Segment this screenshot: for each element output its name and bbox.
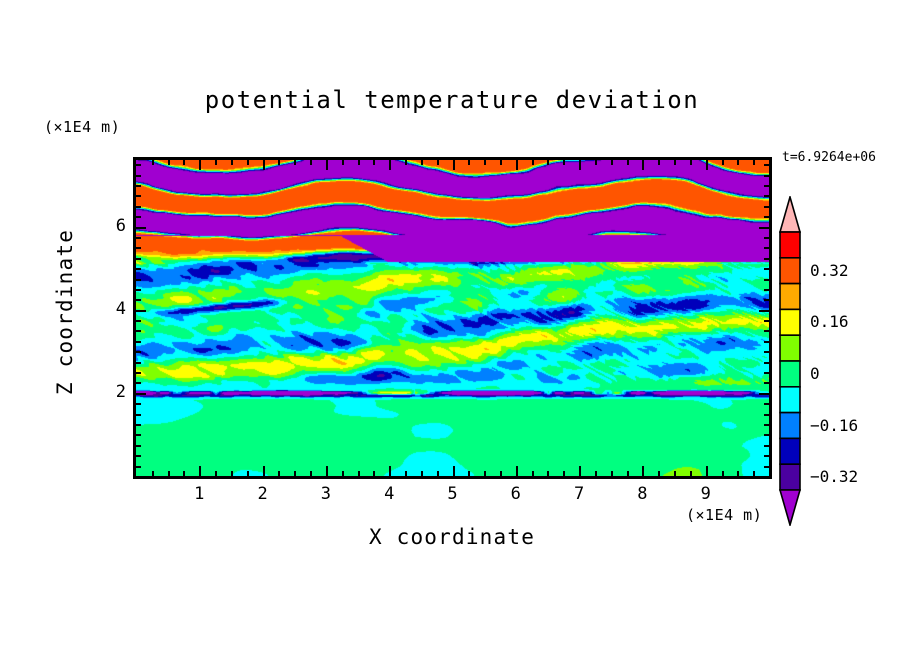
y-axis-minor-tick-right xyxy=(764,175,769,177)
x-axis-minor-tick-top xyxy=(753,160,755,165)
colorbar-tick-label: −0.16 xyxy=(810,416,858,435)
x-axis-major-tick xyxy=(263,466,265,476)
y-axis-minor-tick xyxy=(136,445,141,447)
y-axis-minor-tick-right xyxy=(764,382,769,384)
x-axis-minor-tick xyxy=(563,471,565,476)
y-axis-minor-tick-right xyxy=(764,299,769,301)
x-axis-minor-tick-top xyxy=(168,160,170,165)
y-axis-minor-tick xyxy=(136,320,141,322)
x-axis-minor-tick xyxy=(674,471,676,476)
x-axis-minor-tick xyxy=(547,471,549,476)
x-axis-minor-tick-top xyxy=(658,160,660,165)
x-axis-tick-label: 7 xyxy=(559,484,599,504)
x-axis-major-tick-top xyxy=(199,160,201,170)
x-axis-minor-tick-top xyxy=(627,160,629,165)
x-axis-minor-tick xyxy=(421,471,423,476)
x-axis-minor-tick-top xyxy=(690,160,692,165)
x-axis-tick-label: 4 xyxy=(369,484,409,504)
x-axis-minor-tick xyxy=(627,471,629,476)
y-axis-minor-tick xyxy=(136,372,141,374)
x-axis-title: X coordinate xyxy=(0,525,904,549)
y-axis-minor-tick xyxy=(136,206,141,208)
y-axis-minor-tick-right xyxy=(764,164,769,166)
x-axis-major-tick xyxy=(389,466,391,476)
y-axis-major-tick-right xyxy=(759,310,769,312)
x-axis-minor-tick xyxy=(310,471,312,476)
y-axis-minor-tick xyxy=(136,185,141,187)
y-axis-minor-tick-right xyxy=(764,268,769,270)
x-axis-minor-tick-top xyxy=(532,160,534,165)
y-axis-minor-tick-right xyxy=(764,403,769,405)
x-axis-major-tick xyxy=(706,466,708,476)
y-axis-minor-tick-right xyxy=(764,341,769,343)
x-axis-minor-tick xyxy=(342,471,344,476)
y-axis-minor-tick xyxy=(136,289,141,291)
y-axis-unit-label: (×1E4 m) xyxy=(44,118,120,136)
x-axis-major-tick xyxy=(326,466,328,476)
x-axis-minor-tick-top xyxy=(358,160,360,165)
x-axis-tick-label: 2 xyxy=(243,484,283,504)
y-axis-minor-tick xyxy=(136,268,141,270)
x-axis-minor-tick xyxy=(722,471,724,476)
x-axis-minor-tick-top xyxy=(247,160,249,165)
x-axis-minor-tick-top xyxy=(152,160,154,165)
y-axis-minor-tick-right xyxy=(764,455,769,457)
y-axis-tick-label: 2 xyxy=(86,382,126,402)
x-axis-unit-label: (×1E4 m) xyxy=(686,506,762,524)
colorbar-tick-label: 0 xyxy=(810,364,820,383)
y-axis-major-tick-right xyxy=(759,227,769,229)
x-axis-minor-tick xyxy=(532,471,534,476)
colorbar-swatches xyxy=(778,196,802,526)
x-axis-minor-tick xyxy=(278,471,280,476)
y-axis-minor-tick xyxy=(136,434,141,436)
page-title: potential temperature deviation xyxy=(0,86,904,114)
y-axis-minor-tick-right xyxy=(764,216,769,218)
y-axis-minor-tick-right xyxy=(764,372,769,374)
x-axis-tick-label: 5 xyxy=(433,484,473,504)
y-axis-minor-tick xyxy=(136,341,141,343)
y-axis-minor-tick-right xyxy=(764,362,769,364)
contour-field xyxy=(136,160,769,476)
x-axis-minor-tick xyxy=(437,471,439,476)
colorbar-tick-label: 0.32 xyxy=(810,261,849,280)
x-axis-minor-tick xyxy=(753,471,755,476)
x-axis-minor-tick-top xyxy=(500,160,502,165)
x-axis-major-tick-top xyxy=(579,160,581,170)
y-axis-minor-tick xyxy=(136,362,141,364)
x-axis-tick-label: 6 xyxy=(496,484,536,504)
y-axis-minor-tick xyxy=(136,414,141,416)
y-axis-major-tick xyxy=(136,310,146,312)
y-axis-major-tick xyxy=(136,227,146,229)
x-axis-minor-tick xyxy=(152,471,154,476)
x-axis-minor-tick-top xyxy=(405,160,407,165)
y-axis-minor-tick-right xyxy=(764,279,769,281)
x-axis-minor-tick-top xyxy=(468,160,470,165)
y-axis-major-tick-right xyxy=(759,393,769,395)
y-axis-minor-tick xyxy=(136,299,141,301)
x-axis-minor-tick-top xyxy=(722,160,724,165)
x-axis-minor-tick-top xyxy=(484,160,486,165)
colorbar-tick-label: 0.16 xyxy=(810,312,849,331)
x-axis-minor-tick xyxy=(247,471,249,476)
x-axis-major-tick-top xyxy=(706,160,708,170)
y-axis-minor-tick xyxy=(136,195,141,197)
x-axis-minor-tick xyxy=(358,471,360,476)
x-axis-minor-tick-top xyxy=(294,160,296,165)
x-axis-minor-tick-top xyxy=(595,160,597,165)
y-axis-minor-tick xyxy=(136,351,141,353)
x-axis-minor-tick xyxy=(595,471,597,476)
x-axis-minor-tick xyxy=(658,471,660,476)
x-axis-tick-label: 8 xyxy=(622,484,662,504)
x-axis-minor-tick xyxy=(168,471,170,476)
y-axis-minor-tick xyxy=(136,466,141,468)
x-axis-minor-tick xyxy=(215,471,217,476)
x-axis-minor-tick-top xyxy=(421,160,423,165)
x-axis-minor-tick-top xyxy=(183,160,185,165)
x-axis-major-tick-top xyxy=(263,160,265,170)
x-axis-minor-tick-top xyxy=(737,160,739,165)
colorbar[interactable] xyxy=(778,196,802,526)
x-axis-minor-tick-top xyxy=(310,160,312,165)
y-axis-minor-tick xyxy=(136,258,141,260)
x-axis-major-tick xyxy=(516,466,518,476)
x-axis-tick-label: 3 xyxy=(306,484,346,504)
y-axis-minor-tick xyxy=(136,247,141,249)
y-axis-minor-tick xyxy=(136,216,141,218)
x-axis-minor-tick xyxy=(183,471,185,476)
x-axis-minor-tick xyxy=(737,471,739,476)
x-axis-minor-tick-top xyxy=(373,160,375,165)
y-axis-minor-tick xyxy=(136,279,141,281)
x-axis-minor-tick xyxy=(373,471,375,476)
y-axis-tick-label: 4 xyxy=(86,299,126,319)
y-axis-minor-tick-right xyxy=(764,414,769,416)
y-axis-minor-tick-right xyxy=(764,237,769,239)
y-axis-minor-tick xyxy=(136,382,141,384)
x-axis-minor-tick-top xyxy=(215,160,217,165)
x-axis-minor-tick-top xyxy=(611,160,613,165)
y-axis-minor-tick-right xyxy=(764,206,769,208)
y-axis-minor-tick-right xyxy=(764,445,769,447)
x-axis-minor-tick-top xyxy=(231,160,233,165)
x-axis-minor-tick-top xyxy=(342,160,344,165)
y-axis-major-tick xyxy=(136,393,146,395)
x-axis-major-tick-top xyxy=(453,160,455,170)
y-axis-minor-tick xyxy=(136,403,141,405)
figure-canvas: potential temperature deviation (×1E4 m)… xyxy=(0,0,904,654)
x-axis-minor-tick xyxy=(468,471,470,476)
x-axis-minor-tick xyxy=(231,471,233,476)
y-axis-minor-tick-right xyxy=(764,466,769,468)
x-axis-major-tick xyxy=(453,466,455,476)
y-axis-minor-tick xyxy=(136,237,141,239)
y-axis-minor-tick xyxy=(136,164,141,166)
x-axis-major-tick-top xyxy=(642,160,644,170)
x-axis-minor-tick xyxy=(405,471,407,476)
y-axis-minor-tick-right xyxy=(764,258,769,260)
y-axis-tick-label: 6 xyxy=(86,216,126,236)
x-axis-tick-label: 1 xyxy=(179,484,219,504)
x-axis-major-tick-top xyxy=(516,160,518,170)
y-axis-minor-tick-right xyxy=(764,185,769,187)
y-axis-minor-tick-right xyxy=(764,351,769,353)
y-axis-minor-tick-right xyxy=(764,247,769,249)
colorbar-tick-label: −0.32 xyxy=(810,467,858,486)
x-axis-minor-tick-top xyxy=(674,160,676,165)
x-axis-minor-tick xyxy=(484,471,486,476)
x-axis-minor-tick-top xyxy=(278,160,280,165)
x-axis-tick-label: 9 xyxy=(686,484,726,504)
x-axis-major-tick-top xyxy=(326,160,328,170)
y-axis-minor-tick-right xyxy=(764,195,769,197)
y-axis-minor-tick xyxy=(136,330,141,332)
x-axis-major-tick xyxy=(579,466,581,476)
time-annotation: t=6.9264e+06 xyxy=(782,150,876,165)
x-axis-minor-tick xyxy=(690,471,692,476)
contour-plot-area[interactable] xyxy=(133,157,772,479)
x-axis-minor-tick xyxy=(294,471,296,476)
y-axis-minor-tick-right xyxy=(764,424,769,426)
y-axis-minor-tick-right xyxy=(764,320,769,322)
y-axis-minor-tick xyxy=(136,175,141,177)
x-axis-minor-tick-top xyxy=(547,160,549,165)
x-axis-major-tick-top xyxy=(389,160,391,170)
x-axis-minor-tick xyxy=(500,471,502,476)
y-axis-title: Z coordinate xyxy=(53,212,77,412)
y-axis-minor-tick xyxy=(136,455,141,457)
y-axis-minor-tick-right xyxy=(764,434,769,436)
x-axis-major-tick xyxy=(642,466,644,476)
y-axis-minor-tick xyxy=(136,424,141,426)
x-axis-major-tick xyxy=(199,466,201,476)
x-axis-minor-tick xyxy=(611,471,613,476)
y-axis-minor-tick-right xyxy=(764,330,769,332)
x-axis-minor-tick-top xyxy=(437,160,439,165)
y-axis-minor-tick-right xyxy=(764,289,769,291)
x-axis-minor-tick-top xyxy=(563,160,565,165)
